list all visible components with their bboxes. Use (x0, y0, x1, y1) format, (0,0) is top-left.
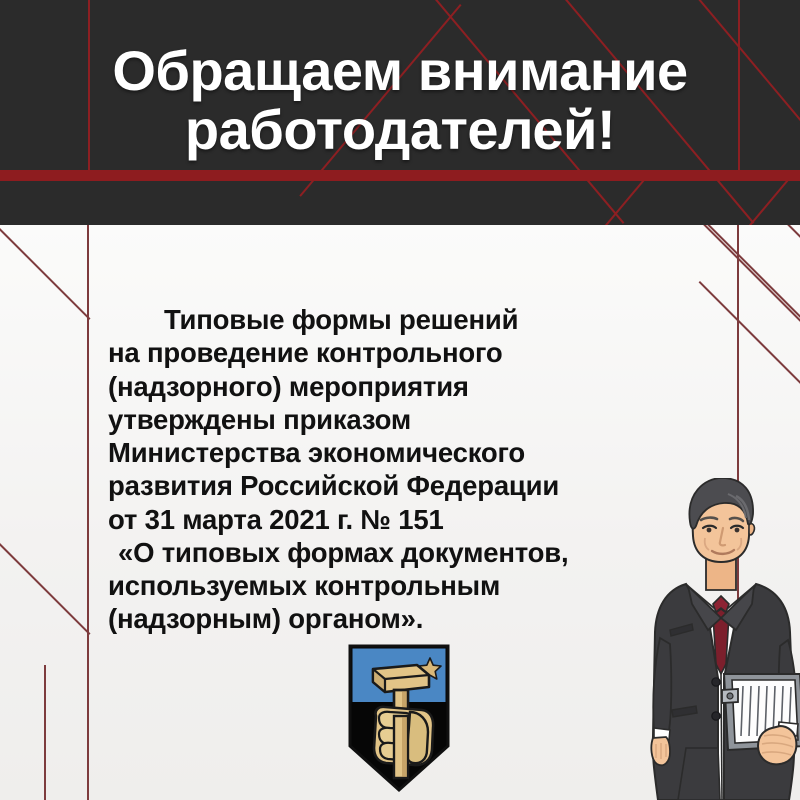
paragraph-line-8: «О типовых формах документов, (108, 536, 720, 569)
paragraph-line-2: на проведение контрольного (108, 336, 720, 369)
main-paragraph: Типовые формы решений на проведение конт… (108, 303, 720, 636)
labour-inspection-emblem (346, 642, 452, 794)
poster-root: Обращаем внимание работодателей! Типовы (0, 0, 800, 800)
emblem-svg (346, 642, 452, 794)
paragraph-line-1: Типовые формы решений (108, 303, 720, 336)
header-line-diagonal-6 (739, 176, 792, 225)
body-line-vertical-left (87, 225, 89, 800)
paragraph-line-4: утверждены приказом (108, 403, 720, 436)
header-banner: Обращаем внимание работодателей! (0, 0, 800, 225)
title-line-1: Обращаем внимание (0, 44, 800, 97)
paragraph-line-10: (надзорным) органом». (108, 602, 720, 635)
body-line-diagonal-left-lower (0, 543, 91, 635)
paragraph-line-9: используемых контрольным (108, 569, 720, 602)
title-line-2: работодателей! (0, 103, 800, 156)
inspector-illustration (648, 478, 800, 800)
paragraph-line-7: от 31 марта 2021 г. № 151 (108, 503, 720, 536)
body-line-vertical-left-short (44, 665, 46, 800)
paragraph-line-5: Министерства экономического (108, 436, 720, 469)
inspector-svg (648, 478, 800, 800)
paragraph-line-3: (надзорного) мероприятия (108, 370, 720, 403)
body-line-diagonal-left-upper (0, 228, 91, 320)
header-red-band (0, 170, 800, 181)
poster-title: Обращаем внимание работодателей! (0, 44, 800, 156)
paragraph-line-6: развития Российской Федерации (108, 469, 720, 502)
